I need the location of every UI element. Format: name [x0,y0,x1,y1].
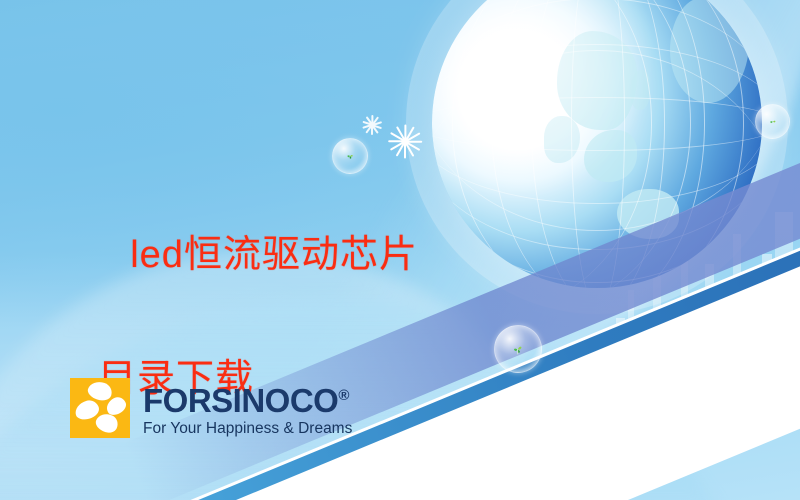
bubble-pinwheel-lower [494,325,542,373]
pinwheel-flower-icon [70,378,130,438]
pinwheel-leaf-icon [508,339,527,358]
sparkle-small [362,120,382,140]
brand-tagline: For Your Happiness & Dreams [143,420,352,438]
brand-wordmark-text: FORSINOCO [143,382,338,419]
headline-line-1: led恒流驱动芯片 [130,234,418,276]
pinwheel-leaf-icon [766,115,780,129]
pinwheel-leaf-icon [343,149,357,163]
bubble-pinwheel-right [755,104,790,139]
brand-wordmark: FORSINOCO® [143,379,352,418]
page-title: led恒流驱动芯片 目录下载 [84,162,418,500]
registered-trademark-icon: ® [338,387,349,404]
promo-banner: led恒流驱动芯片 目录下载 FORSINOCO® For Your Happi… [0,0,800,500]
brand-logo-text: FORSINOCO® For Your Happiness & Dreams [143,379,352,438]
brand-logo: FORSINOCO® For Your Happiness & Dreams [70,378,352,438]
